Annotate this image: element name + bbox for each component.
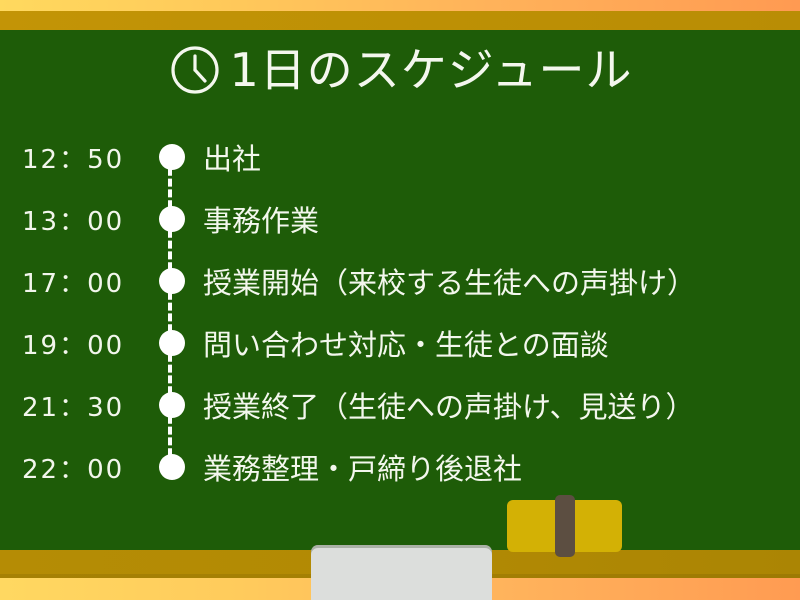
schedule-time: 21：30 <box>22 387 152 424</box>
timeline-dot <box>159 392 185 418</box>
timeline-dot <box>159 206 185 232</box>
chalkboard-eraser <box>311 545 492 600</box>
schedule-row: 12：50 出社 <box>0 126 800 188</box>
schedule-row: 22：00 業務整理・戸締り後退社 <box>0 436 800 498</box>
schedule-label: 問い合わせ対応・生徒との面談 <box>203 322 609 364</box>
schedule-label: 授業開始（来校する生徒への声掛け） <box>203 260 696 302</box>
schedule-label: 業務整理・戸締り後退社 <box>203 446 522 488</box>
top-frame-gradient <box>0 0 800 11</box>
schedule-row: 13：00 事務作業 <box>0 188 800 250</box>
schedule-row: 21：30 授業終了（生徒への声掛け、見送り） <box>0 374 800 436</box>
chalkboard: 1日のスケジュール 12：50 出社 13：00 事務作業 17：00 <box>0 0 800 600</box>
schedule-time: 17：00 <box>22 263 152 300</box>
top-frame-gold-band <box>0 11 800 30</box>
chalk-box-band <box>555 495 575 557</box>
schedule-row: 17：00 授業開始（来校する生徒への声掛け） <box>0 250 800 312</box>
schedule-time: 13：00 <box>22 201 152 238</box>
schedule-label: 事務作業 <box>203 198 319 240</box>
title-row: 1日のスケジュール <box>0 42 800 98</box>
timeline-dot <box>159 454 185 480</box>
schedule-time: 12：50 <box>22 139 152 176</box>
schedule-row: 19：00 問い合わせ対応・生徒との面談 <box>0 312 800 374</box>
schedule-label: 出社 <box>203 136 261 178</box>
timeline-dot <box>159 144 185 170</box>
page-title: 1日のスケジュール <box>229 47 632 93</box>
schedule-list: 12：50 出社 13：00 事務作業 17：00 授業開始（来校する生徒への声… <box>0 126 800 498</box>
schedule-time: 19：00 <box>22 325 152 362</box>
timeline-dot <box>159 330 185 356</box>
timeline-dot <box>159 268 185 294</box>
clock-icon <box>167 42 223 98</box>
timeline-marker-cell <box>155 126 189 188</box>
schedule-label: 授業終了（生徒への声掛け、見送り） <box>203 384 695 426</box>
schedule-time: 22：00 <box>22 449 152 486</box>
